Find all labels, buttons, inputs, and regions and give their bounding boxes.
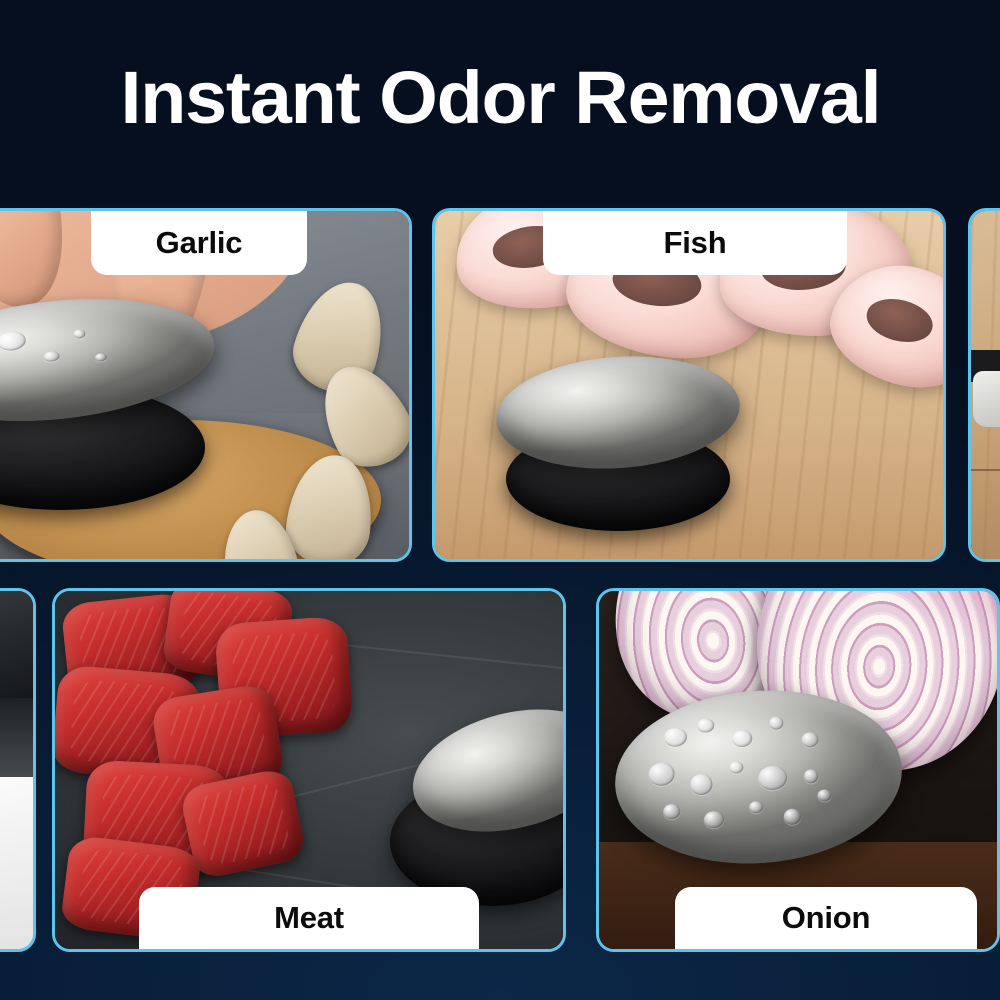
- edge-photo-right: [971, 211, 1000, 559]
- steel-surface: [0, 698, 33, 784]
- label-text: Onion: [782, 900, 871, 936]
- card-row2-edge[interactable]: [0, 588, 36, 952]
- card-onion[interactable]: Onion: [596, 588, 1000, 952]
- label-text: Meat: [274, 900, 344, 936]
- water-droplet: [663, 727, 687, 747]
- label-chip-meat: Meat: [139, 887, 479, 949]
- water-droplet: [801, 732, 819, 749]
- water-droplet: [817, 789, 832, 802]
- card-meat[interactable]: Meat: [52, 588, 566, 952]
- label-text: Garlic: [156, 225, 243, 261]
- water-droplet: [697, 718, 715, 733]
- water-droplet: [732, 729, 753, 748]
- label-text: Fish: [664, 225, 727, 261]
- infographic-stage: Instant Odor Removal Gar: [0, 0, 1000, 1000]
- soap-partial: [973, 371, 1000, 427]
- water-droplet: [72, 329, 86, 340]
- water-droplet: [748, 801, 763, 814]
- water-droplet: [94, 353, 107, 363]
- white-surface: [0, 777, 33, 949]
- water-droplet: [0, 331, 27, 353]
- water-droplet: [804, 770, 819, 785]
- water-droplet: [703, 811, 724, 830]
- page-title: Instant Odor Removal: [120, 61, 880, 135]
- card-row1-edge[interactable]: [968, 208, 1000, 562]
- water-droplet: [648, 762, 675, 786]
- label-chip-fish: Fish: [543, 211, 847, 275]
- label-chip-onion: Onion: [675, 887, 977, 949]
- water-droplet: [768, 717, 783, 730]
- label-chip-garlic: Garlic: [91, 211, 307, 275]
- water-droplet: [662, 803, 680, 820]
- water-droplet: [728, 761, 743, 774]
- water-droplet: [783, 809, 801, 826]
- edge-photo-left: [0, 591, 33, 949]
- water-droplet: [43, 351, 60, 363]
- dark-appliance: [0, 591, 33, 698]
- card-fish[interactable]: Fish: [432, 208, 946, 562]
- title-bar: Instant Odor Removal: [0, 0, 1000, 196]
- card-garlic[interactable]: Garlic: [0, 208, 412, 562]
- water-droplet: [689, 773, 713, 795]
- board-seam: [971, 469, 1000, 471]
- water-droplet: [757, 765, 787, 791]
